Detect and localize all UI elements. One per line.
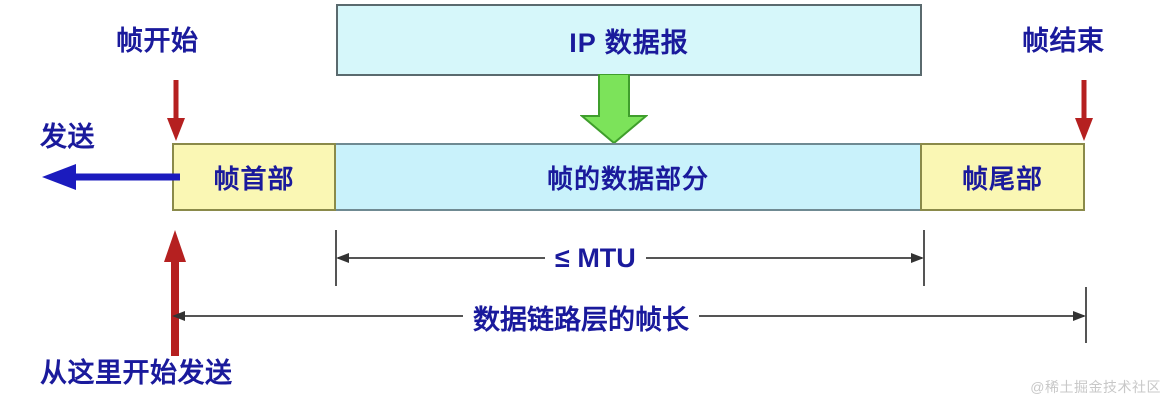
frame-data-segment: 帧的数据部分: [336, 143, 920, 211]
frame-trailer-label: 帧尾部: [962, 159, 1043, 196]
frame-end-label: 帧结束: [1022, 28, 1105, 55]
frame-data-label: 帧的数据部分: [547, 159, 709, 196]
frame-header-segment: 帧首部: [172, 143, 336, 211]
frame-length-label: 数据链路层的帧长: [463, 298, 699, 337]
green-down-arrow-icon: [580, 74, 648, 144]
blue-left-arrow-icon: [40, 163, 180, 191]
red-down-arrow-icon: [1073, 80, 1095, 142]
send-label: 发送: [40, 124, 95, 151]
frame-bar: 帧首部 帧的数据部分 帧尾部: [172, 143, 1085, 211]
mtu-label: ≤ MTU: [545, 243, 646, 274]
frame-trailer-segment: 帧尾部: [920, 143, 1085, 211]
watermark: @稀土掘金技术社区: [1030, 377, 1161, 397]
start-sending-here-label: 从这里开始发送: [40, 360, 233, 387]
diagram-canvas: IP 数据报 帧首部 帧的数据部分 帧尾部 帧开始 帧结束 发送 从这里: [0, 0, 1173, 405]
red-down-arrow-icon: [165, 80, 187, 142]
ip-datagram-label: IP 数据报: [569, 21, 689, 60]
frame-header-label: 帧首部: [213, 159, 294, 196]
ip-datagram-box: IP 数据报: [336, 4, 922, 76]
frame-start-label: 帧开始: [116, 28, 199, 55]
